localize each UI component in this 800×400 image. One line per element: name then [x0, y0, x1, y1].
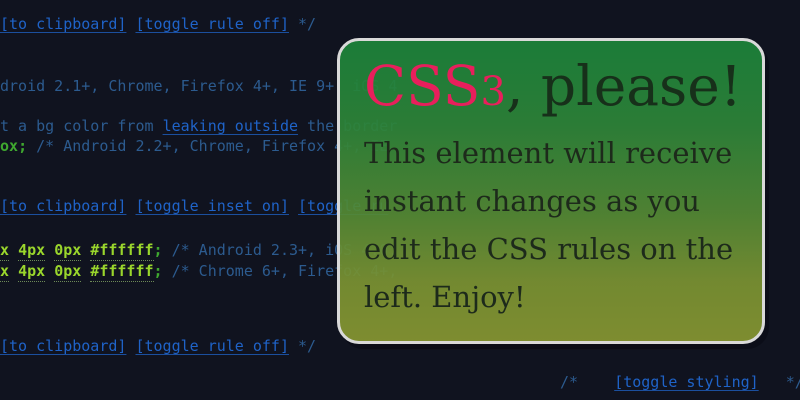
- shadow-color-value: #ffffff: [90, 262, 153, 282]
- line-copy-toggle-bottom: [to clipboard] [toggle rule off] */: [0, 336, 316, 356]
- toggle-inset-on-link[interactable]: [toggle inset on]: [135, 197, 289, 215]
- code-segment-space: [289, 337, 298, 355]
- preview-card[interactable]: CSS3, please! This element will receive …: [337, 38, 765, 344]
- comment-close: */: [298, 337, 316, 355]
- toggle-rule-off-link[interactable]: [toggle rule off]: [135, 15, 289, 33]
- line-borderbox: ox; /* Android 2.2+, Chrome, Firefox 4+,…: [0, 136, 388, 156]
- css3-please-app: [to clipboard] [toggle rule off] */droid…: [0, 0, 800, 400]
- leaking-outside-link[interactable]: leaking outside: [163, 117, 298, 135]
- shadow-color-value: #ffffff: [90, 241, 153, 261]
- code-segment-space: [289, 197, 298, 215]
- code-segment-space: [81, 262, 90, 280]
- semicolon: ;: [154, 262, 163, 280]
- preview-body-text: This element will receive instant change…: [364, 129, 742, 321]
- brand-three-label: 3: [480, 69, 505, 115]
- comment-open: /*: [560, 373, 578, 391]
- to-clipboard-link[interactable]: [to clipboard]: [0, 337, 126, 355]
- code-segment-space: [578, 373, 614, 391]
- semicolon: ;: [18, 137, 27, 155]
- comment-close: */: [786, 373, 800, 391]
- shadow-blur-value: 0px: [54, 262, 81, 282]
- heading-rest-label: , please!: [506, 54, 742, 118]
- preview-heading: CSS3, please!: [364, 55, 742, 123]
- brand-css-label: CSS: [364, 54, 480, 118]
- code-segment-space: [81, 241, 90, 259]
- line-copy-toggle-middle: [to clipboard] [toggle inset on] [toggle…: [0, 196, 388, 216]
- border-box-value: ox: [0, 137, 18, 155]
- shadow-x-value: x: [0, 241, 9, 261]
- code-segment-space: [9, 262, 18, 280]
- semicolon: ;: [154, 241, 163, 259]
- shadow-blur-value: 0px: [54, 241, 81, 261]
- code-segment-space: [45, 262, 54, 280]
- code-segment-space: [9, 241, 18, 259]
- shadow-y-value: 4px: [18, 262, 45, 282]
- borderbox-comment: /* Android 2.2+, Chrome, Firefox 4+, IE: [27, 137, 388, 155]
- code-segment-space: [45, 241, 54, 259]
- line-toggle-styling: /* [toggle styling] */: [560, 372, 800, 392]
- to-clipboard-link[interactable]: [to clipboard]: [0, 197, 126, 215]
- shadow-y-value: 4px: [18, 241, 45, 261]
- bgclip-note-text: t a bg color from: [0, 117, 163, 135]
- toggle-styling-link[interactable]: [toggle styling]: [614, 373, 759, 391]
- to-clipboard-link[interactable]: [to clipboard]: [0, 15, 126, 33]
- line-copy-toggle-top: [to clipboard] [toggle rule off] */: [0, 14, 316, 34]
- code-segment-space: [759, 373, 786, 391]
- code-segment-space: [289, 15, 298, 33]
- shadow-x-value: x: [0, 262, 9, 282]
- toggle-rule-off-link[interactable]: [toggle rule off]: [135, 337, 289, 355]
- brand-css-text: CSS3: [364, 54, 506, 118]
- comment-close: */: [298, 15, 316, 33]
